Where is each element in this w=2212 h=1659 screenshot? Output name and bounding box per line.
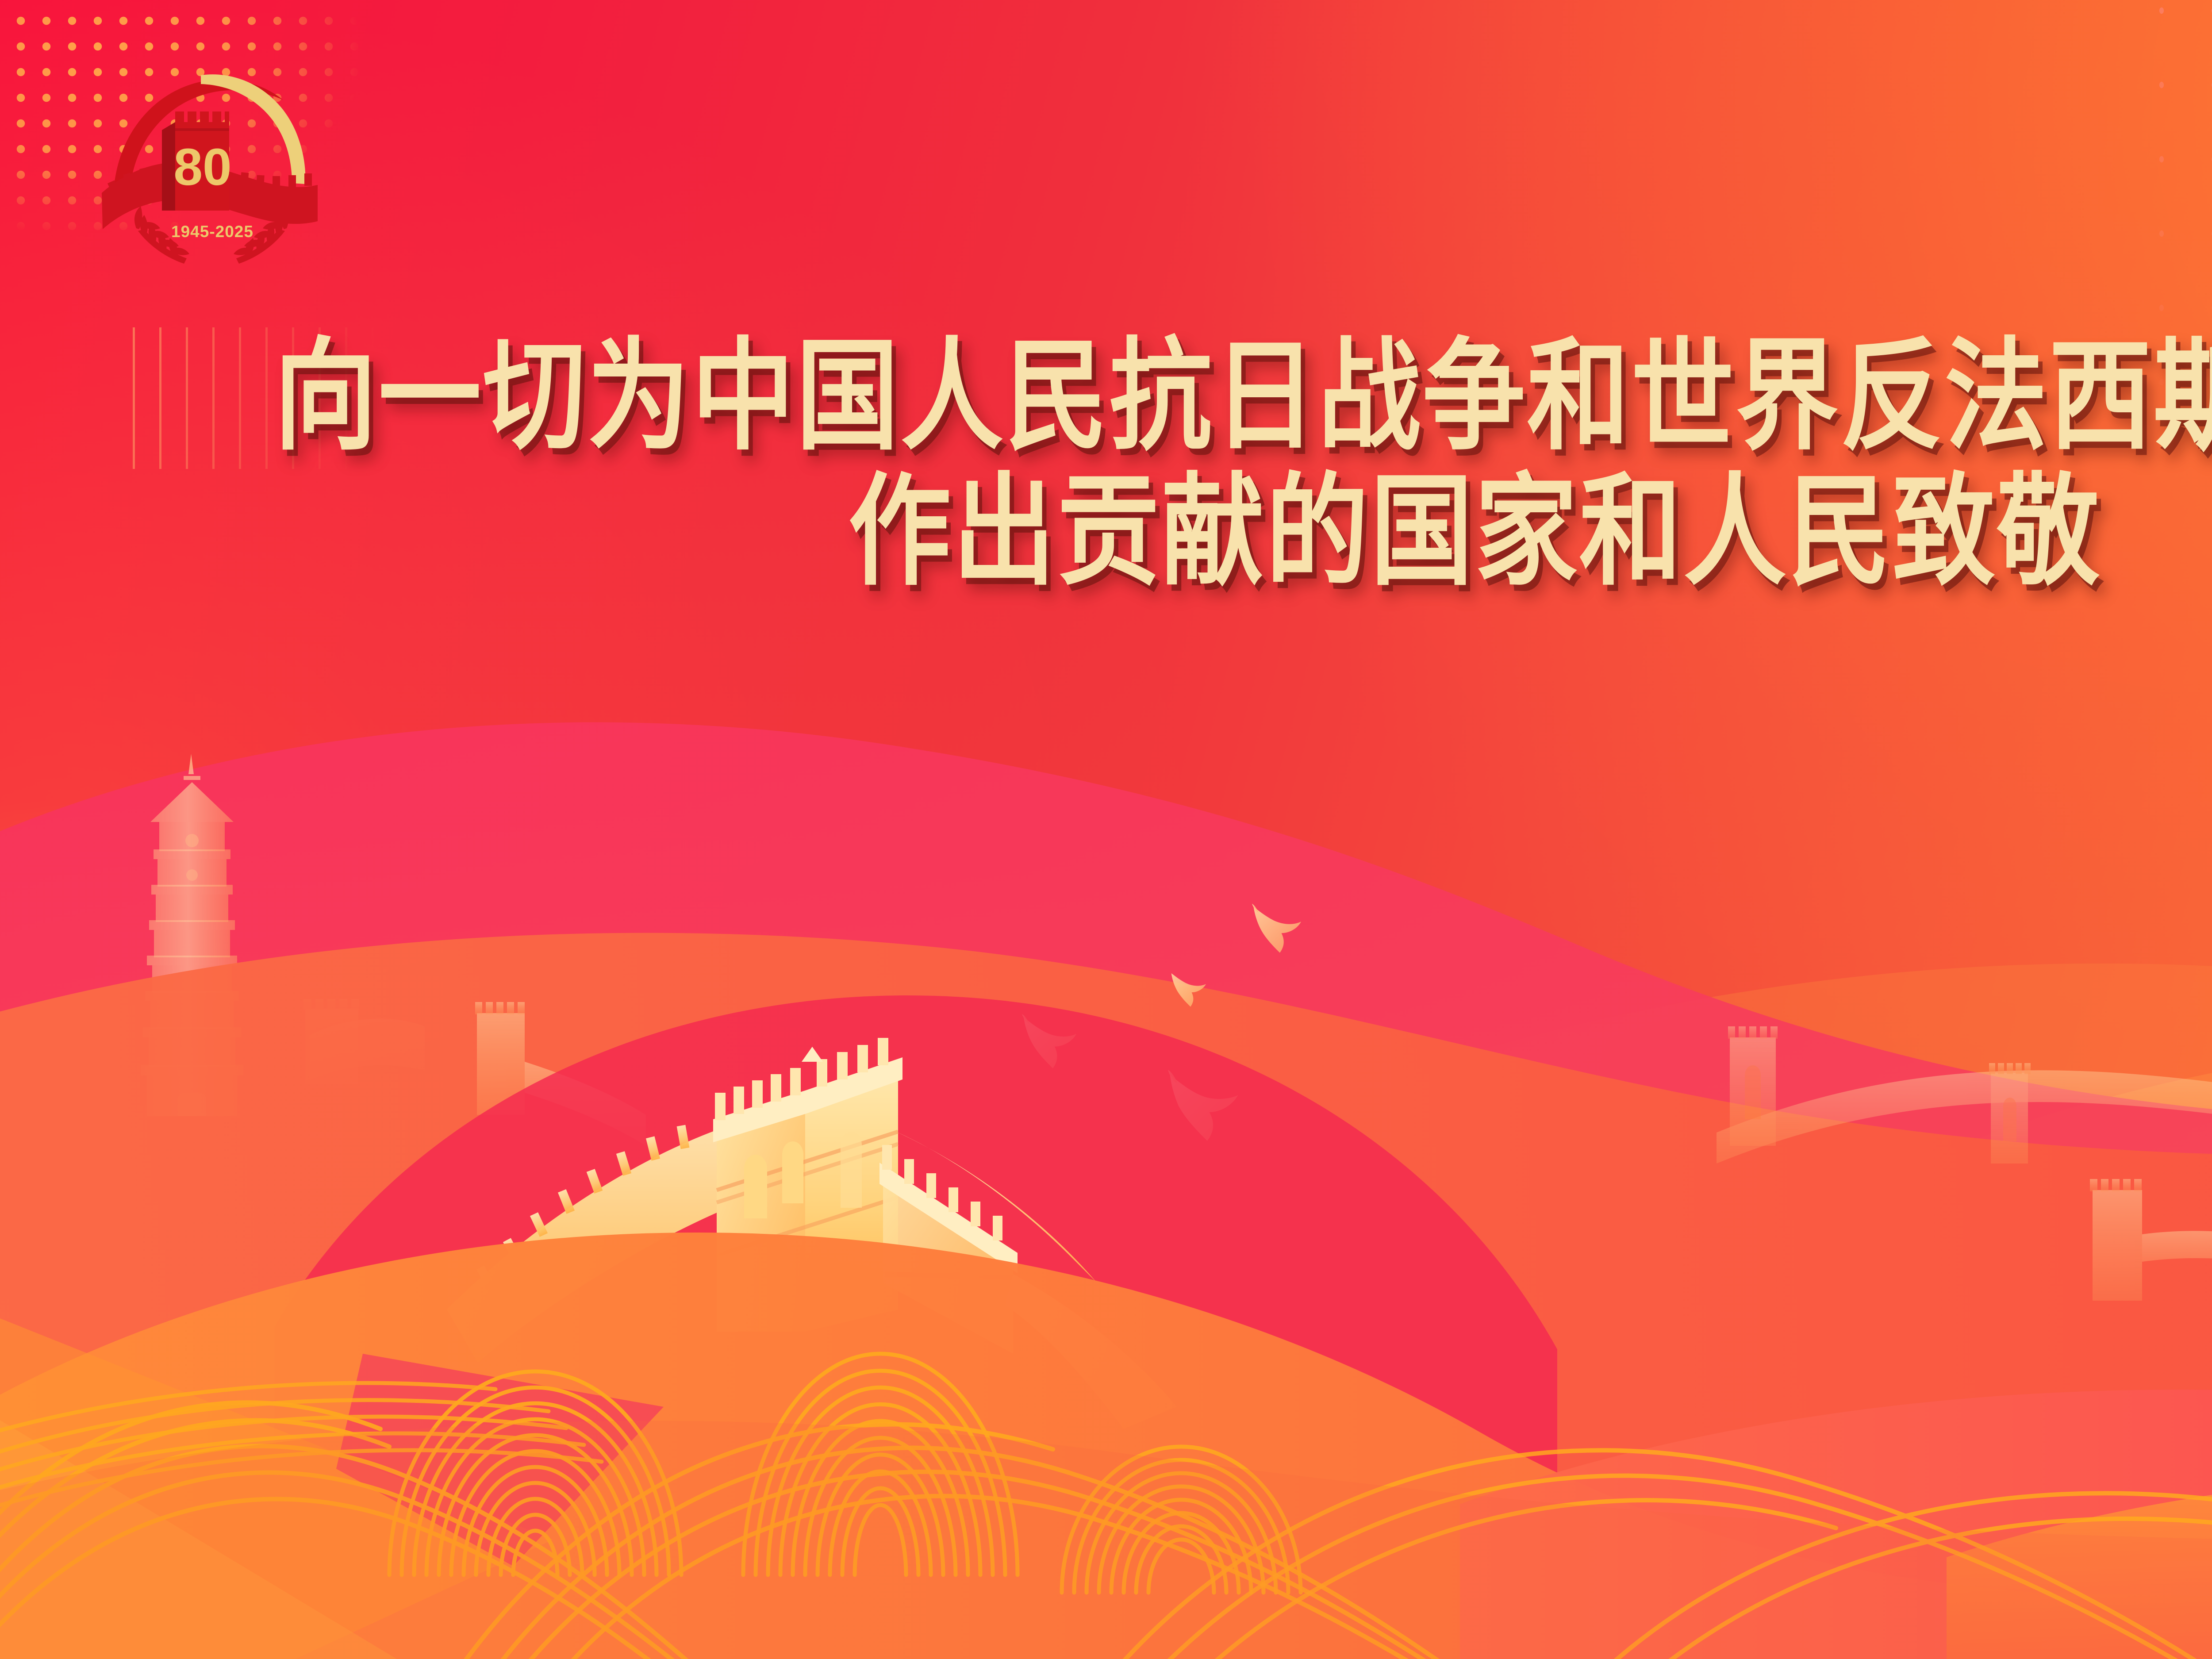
anniversary-number: 80 <box>173 138 231 196</box>
80th-anniversary-emblem: 80 1945-2025 <box>92 52 331 273</box>
landscape-illustration <box>0 0 2212 1659</box>
year-range-label: 1945-2025 <box>171 223 253 241</box>
poster-canvas: 80 1945-2025 <box>0 0 2212 1659</box>
